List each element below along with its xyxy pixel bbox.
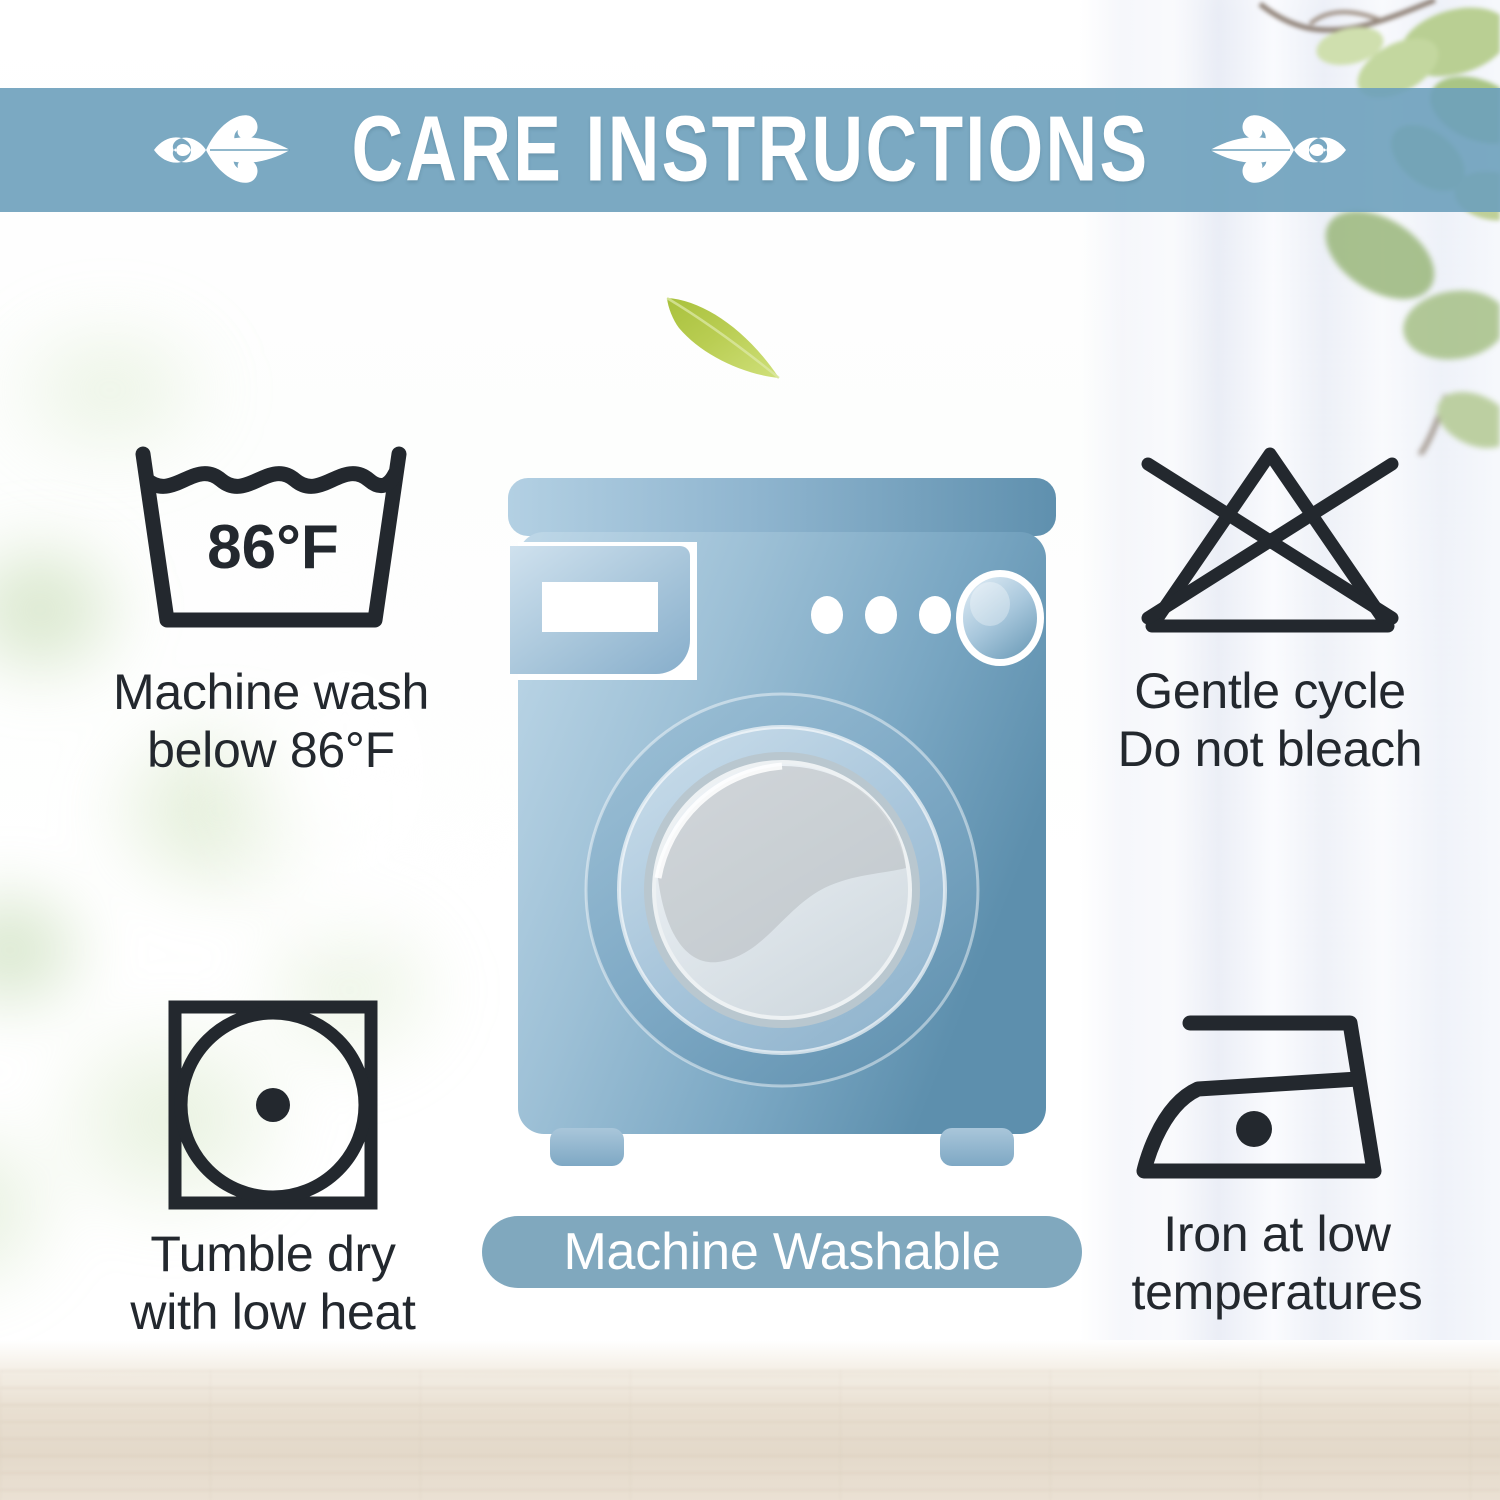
symbol-caption: Tumble dry with low heat: [130, 1225, 415, 1341]
iron-low-temperature-icon: [1132, 995, 1422, 1195]
symbol-tumble-dry: Tumble dry with low heat: [58, 995, 488, 1341]
symbol-caption: Iron at low temperatures: [1132, 1205, 1423, 1321]
indicator-light: [811, 596, 843, 634]
wash-tub-icon: 86°F: [121, 440, 421, 645]
wood-surface-grain: [0, 1370, 1500, 1500]
care-instructions-infographic: CARE INSTRUCTIONS: [0, 0, 1500, 1500]
symbol-caption: Gentle cycle Do not bleach: [1118, 662, 1423, 778]
fleur-de-lis-flourish-icon: [1204, 102, 1354, 198]
badge-label: Machine Washable: [563, 1226, 1000, 1278]
symbol-iron: Iron at low temperatures: [1062, 995, 1492, 1321]
wash-temperature-value: 86°F: [207, 513, 339, 582]
symbol-machine-wash: 86°F Machine wash below 86°F: [46, 440, 496, 779]
machine-washable-badge: Machine Washable: [482, 1216, 1082, 1288]
washing-machine-illustration: [492, 470, 1072, 1190]
indicator-light: [865, 596, 897, 634]
foliage-branch-lower-icon: [1250, 195, 1500, 455]
symbol-caption: Machine wash below 86°F: [113, 663, 429, 779]
green-leaf-icon: [655, 282, 795, 392]
do-not-bleach-triangle-icon: [1120, 440, 1420, 640]
symbol-do-not-bleach: Gentle cycle Do not bleach: [1050, 440, 1490, 778]
indicator-light: [919, 596, 951, 634]
header-banner: CARE INSTRUCTIONS: [0, 88, 1500, 212]
fleur-de-lis-flourish-icon: [146, 102, 296, 198]
page-title: CARE INSTRUCTIONS: [351, 104, 1149, 197]
tumble-dry-low-heat-icon: [163, 995, 383, 1215]
